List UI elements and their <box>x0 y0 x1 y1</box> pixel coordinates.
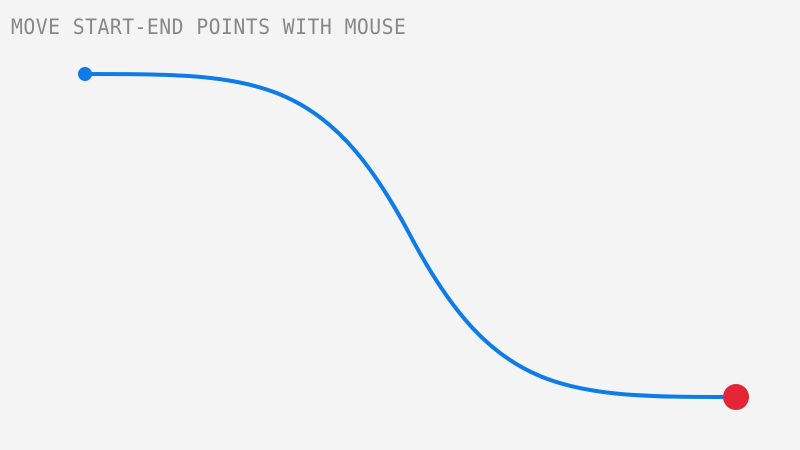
canvas-root: MOVE START-END POINTS WITH MOUSE <box>0 0 800 450</box>
end-point-handle[interactable] <box>723 384 749 410</box>
start-point-handle[interactable] <box>78 67 92 81</box>
bezier-curve <box>85 74 736 397</box>
curve-canvas[interactable] <box>0 0 800 450</box>
